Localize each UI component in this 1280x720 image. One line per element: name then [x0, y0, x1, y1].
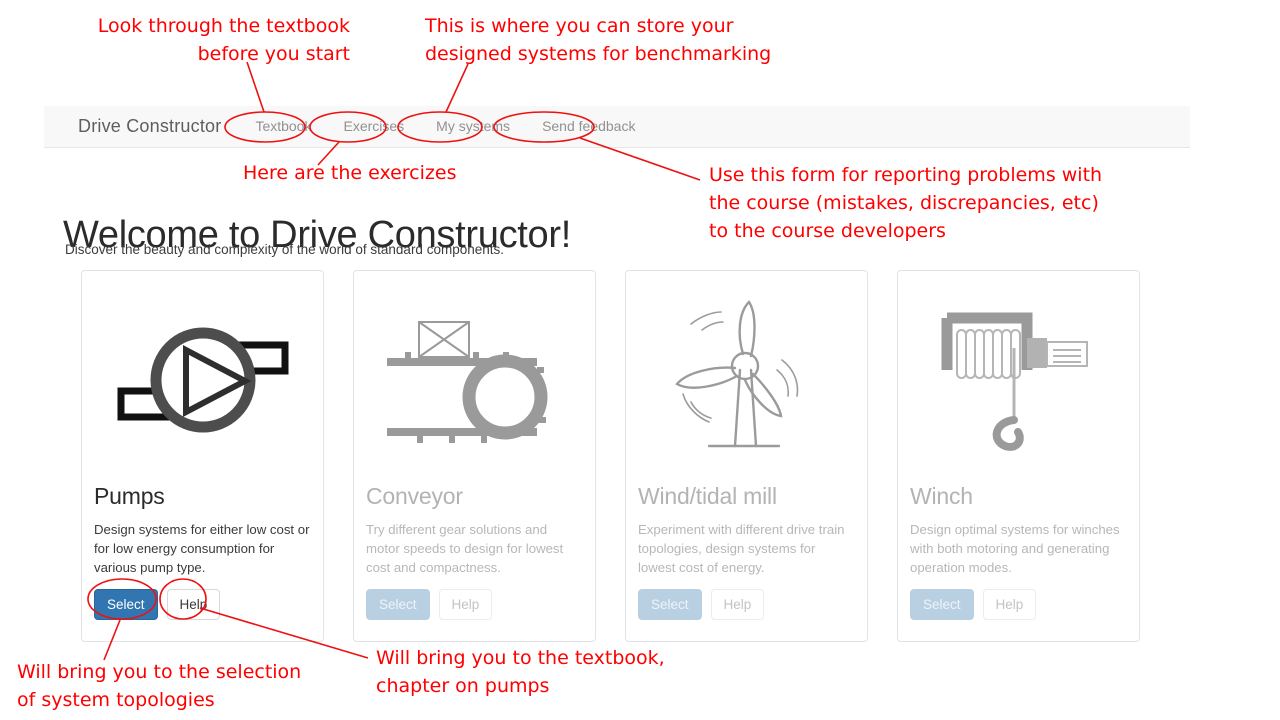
card-title-winch: Winch	[910, 483, 1127, 510]
card-actions-winch: Select Help	[910, 589, 1127, 620]
card-body-wind-tidal-mill: Wind/tidal mill Experiment with differen…	[626, 483, 867, 620]
annotation-text-exercises: Here are the exercizes	[243, 159, 543, 187]
nav-link-send-feedback[interactable]: Send feedback	[526, 106, 651, 147]
nav-link-textbook[interactable]: Textbook	[239, 106, 327, 147]
card-actions-pumps: Select Help	[94, 589, 311, 620]
card-title-conveyor: Conveyor	[366, 483, 583, 510]
card-actions-conveyor: Select Help	[366, 589, 583, 620]
card-actions-wind-tidal-mill: Select Help	[638, 589, 855, 620]
card-text-pumps: Design systems for either low cost or fo…	[94, 520, 311, 577]
page-subtitle: Discover the beauty and complexity of th…	[65, 242, 504, 257]
winch-icon	[919, 300, 1119, 460]
card-deck: Pumps Design systems for either low cost…	[81, 270, 1140, 642]
card-body-pumps: Pumps Design systems for either low cost…	[82, 483, 323, 620]
card-image-winch	[898, 271, 1139, 483]
select-button-wind-tidal-mill[interactable]: Select	[638, 589, 702, 620]
pump-icon	[103, 305, 303, 455]
help-button-conveyor[interactable]: Help	[439, 589, 493, 620]
annotation-line-textbook	[247, 62, 264, 112]
brand-title: Drive Constructor	[78, 116, 221, 137]
annotation-text-select: Will bring you to the selection of syste…	[17, 658, 347, 714]
conveyor-icon	[375, 305, 575, 455]
card-body-conveyor: Conveyor Try different gear solutions an…	[354, 483, 595, 620]
nav-link-my-systems[interactable]: My systems	[420, 106, 526, 147]
nav-link-exercises[interactable]: Exercises	[327, 106, 420, 147]
card-text-wind-tidal-mill: Experiment with different drive train to…	[638, 520, 855, 577]
annotation-line-my-systems	[446, 64, 468, 112]
wind-turbine-icon	[647, 298, 847, 463]
card-text-winch: Design optimal systems for winches with …	[910, 520, 1127, 577]
annotation-text-help: Will bring you to the textbook, chapter …	[376, 644, 706, 700]
annotation-text-textbook: Look through the textbook before you sta…	[40, 12, 350, 68]
select-button-pumps[interactable]: Select	[94, 589, 158, 620]
help-button-wind-tidal-mill[interactable]: Help	[711, 589, 765, 620]
card-image-conveyor	[354, 271, 595, 483]
help-button-winch[interactable]: Help	[983, 589, 1037, 620]
card-pumps[interactable]: Pumps Design systems for either low cost…	[81, 270, 324, 642]
help-button-pumps[interactable]: Help	[167, 589, 221, 620]
card-image-wind-tidal-mill	[626, 271, 867, 483]
card-body-winch: Winch Design optimal systems for winches…	[898, 483, 1139, 620]
annotation-text-send-feedback: Use this form for reporting problems wit…	[709, 161, 1139, 245]
card-winch[interactable]: Winch Design optimal systems for winches…	[897, 270, 1140, 642]
card-title-pumps: Pumps	[94, 483, 311, 510]
card-wind-tidal-mill[interactable]: Wind/tidal mill Experiment with differen…	[625, 270, 868, 642]
navbar: Drive Constructor Textbook Exercises My …	[44, 106, 1190, 148]
annotation-text-my-systems: This is where you can store your designe…	[425, 12, 845, 68]
select-button-conveyor[interactable]: Select	[366, 589, 430, 620]
card-conveyor[interactable]: Conveyor Try different gear solutions an…	[353, 270, 596, 642]
card-text-conveyor: Try different gear solutions and motor s…	[366, 520, 583, 577]
select-button-winch[interactable]: Select	[910, 589, 974, 620]
card-image-pumps	[82, 271, 323, 483]
card-title-wind-tidal-mill: Wind/tidal mill	[638, 483, 855, 510]
